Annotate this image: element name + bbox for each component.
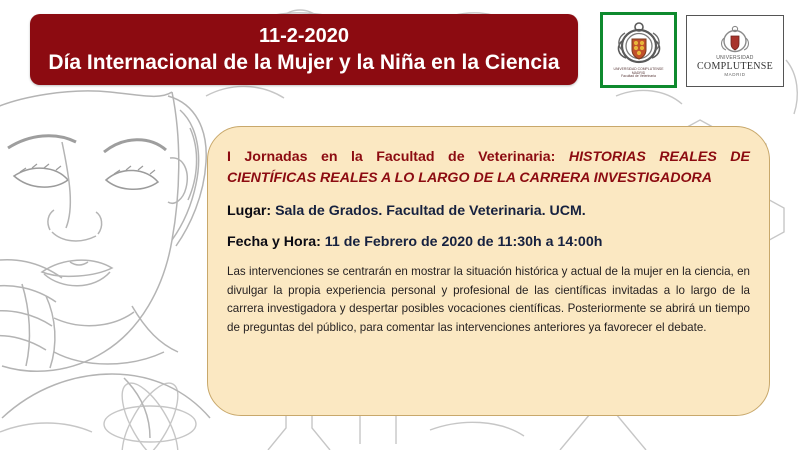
detail-lugar-value: Sala de Grados. Facultad de Veterinaria.… <box>275 203 586 219</box>
complutense-crest-icon <box>720 25 750 55</box>
banner-occasion: Día Internacional de la Mujer y la Niña … <box>48 49 559 76</box>
detail-fecha-hora-value: 11 de Febrero de 2020 de 11:30h a 14:00h <box>325 234 603 250</box>
detail-lugar-label: Lugar: <box>227 203 275 219</box>
event-title-prefix: I Jornadas en la Facultad de Veterinaria… <box>227 149 569 165</box>
event-description: Las intervenciones se centrarán en mostr… <box>227 263 750 337</box>
logo-vet-caption-line3: Facultad de Veterinaria <box>614 75 664 79</box>
logo-ucm-caption-line2: COMPLUTENSE <box>697 61 773 72</box>
event-info-card: I Jornadas en la Facultad de Veterinaria… <box>207 126 770 416</box>
header-banner: 11-2-2020 Día Internacional de la Mujer … <box>30 14 578 85</box>
logo-universidad-complutense-madrid: UNIVERSIDAD COMPLUTENSE MADRID <box>686 15 784 87</box>
ucm-crest-icon <box>616 21 662 67</box>
banner-date: 11-2-2020 <box>259 24 349 49</box>
poster: 11-2-2020 Día Internacional de la Mujer … <box>0 0 800 450</box>
event-title: I Jornadas en la Facultad de Veterinaria… <box>227 147 750 189</box>
detail-fecha-hora-label: Fecha y Hora: <box>227 234 325 250</box>
detail-fecha-hora: Fecha y Hora: 11 de Febrero de 2020 de 1… <box>227 232 750 252</box>
logo-ucm-caption-line3: MADRID <box>724 72 745 77</box>
detail-lugar: Lugar: Sala de Grados. Facultad de Veter… <box>227 201 750 221</box>
logo-vet-caption: UNIVERSIDAD COMPLUTENSE MADRID Facultad … <box>614 68 664 79</box>
logo-facultad-veterinaria-ucm: UNIVERSIDAD COMPLUTENSE MADRID Facultad … <box>600 12 677 88</box>
